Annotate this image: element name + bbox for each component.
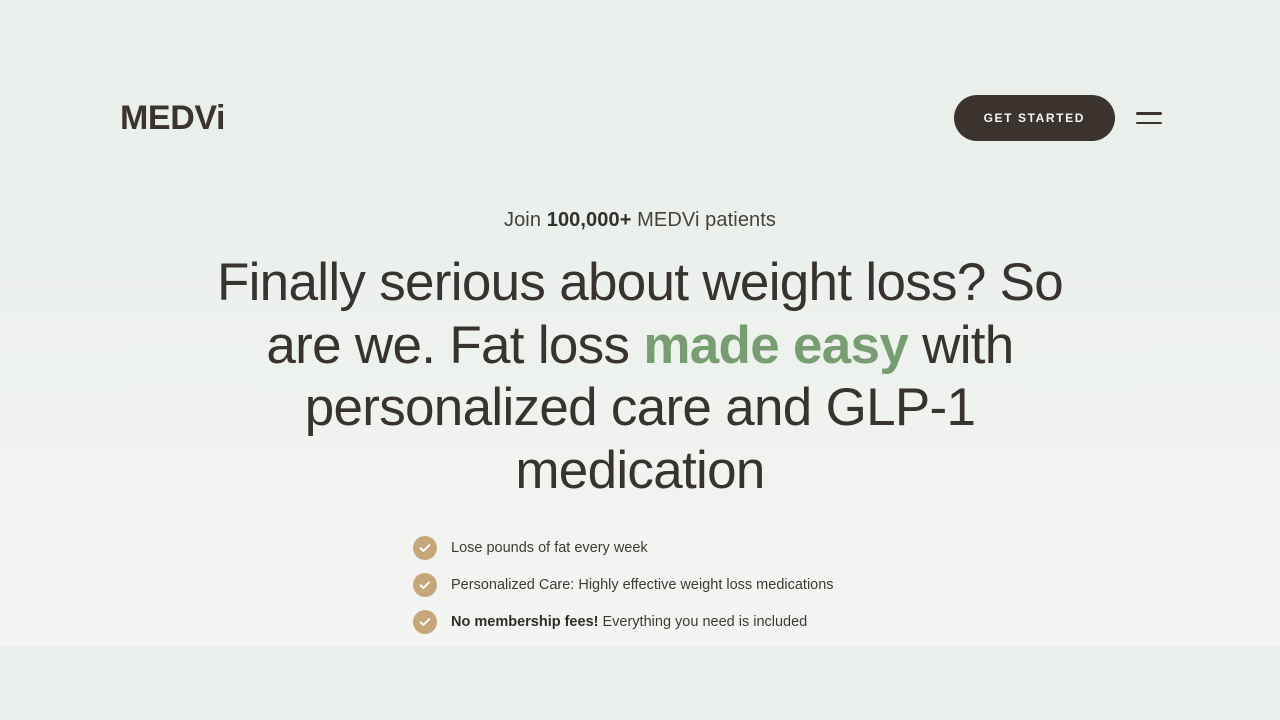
patient-count-eyebrow: Join 100,000+ MEDVi patients xyxy=(0,166,1280,233)
hamburger-line-bottom xyxy=(1136,122,1162,125)
list-item: No membership fees! Everything you need … xyxy=(413,610,807,634)
list-item: Lose pounds of fat every week xyxy=(413,536,648,560)
page-title: Finally serious about weight loss? So ar… xyxy=(190,252,1090,502)
list-item: Personalized Care: Highly effective weig… xyxy=(413,573,834,597)
benefit-bold: No membership fees! xyxy=(451,614,598,630)
eyebrow-patient-count: 100,000+ xyxy=(547,209,632,231)
medvi-logo[interactable]: MEDVi xyxy=(120,101,225,135)
benefits-list: Lose pounds of fat every week Personaliz… xyxy=(0,536,1280,634)
check-circle-icon xyxy=(413,573,437,597)
site-header: MEDVi GET STARTED xyxy=(0,70,1280,166)
header-actions: GET STARTED xyxy=(954,95,1162,141)
benefit-rest: Everything you need is included xyxy=(598,614,807,630)
eyebrow-prefix: Join xyxy=(504,209,547,231)
benefit-rest: Lose pounds of fat every week xyxy=(451,540,648,556)
check-circle-icon xyxy=(413,610,437,634)
hamburger-menu-icon[interactable] xyxy=(1136,107,1162,129)
headline-accent-phrase: made easy xyxy=(643,316,908,375)
benefit-label: Personalized Care: Highly effective weig… xyxy=(451,576,834,595)
benefit-label: No membership fees! Everything you need … xyxy=(451,613,807,632)
page-root: MEDVi GET STARTED Join 100,000+ MEDVi pa… xyxy=(0,0,1280,720)
get-started-button[interactable]: GET STARTED xyxy=(954,95,1115,141)
hero-section: Join 100,000+ MEDVi patients Finally ser… xyxy=(0,166,1280,502)
hamburger-line-top xyxy=(1136,112,1162,115)
benefit-rest: Personalized Care: Highly effective weig… xyxy=(451,577,834,593)
benefit-label: Lose pounds of fat every week xyxy=(451,539,648,558)
check-circle-icon xyxy=(413,536,437,560)
eyebrow-suffix: MEDVi patients xyxy=(632,209,777,231)
